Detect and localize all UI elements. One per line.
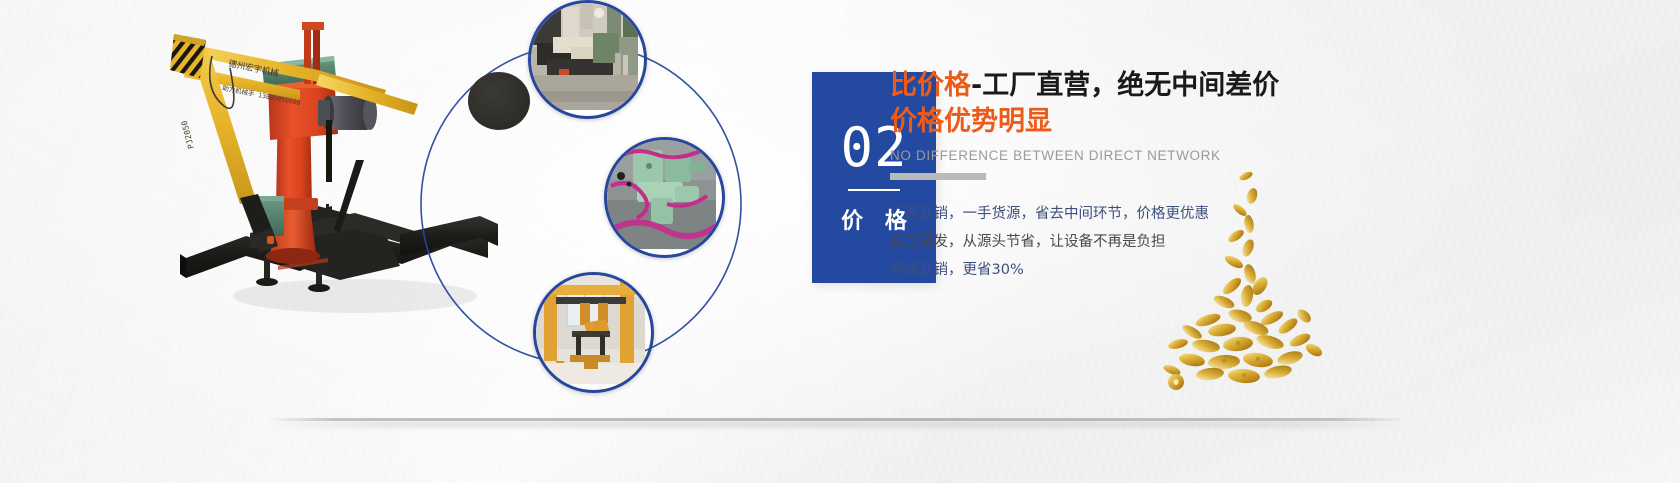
thumbnail-factory-crane[interactable] [533,272,654,393]
promo-banner: 德州宏宇机械 助力机械手 13805050000 PJ2050 [0,0,1680,483]
headline-english-subtitle: NO DIFFERENCE BETWEEN DIRECT NETWORK [890,148,1450,163]
headline-line-2: 价格优势明显 [890,105,1450,139]
headline-line-1: 比价格-工厂直营，绝无中间差价 [890,68,1450,104]
gold-coins-illustration [1148,170,1338,395]
thumbnail-workshop-machines[interactable] [528,0,647,119]
headline-highlight: 比价格 [890,70,971,101]
thumbnail-pneumatic-valve[interactable] [604,137,725,258]
bottom-divider [268,418,1406,421]
decorative-dark-ellipse [468,72,530,130]
accent-bar [890,173,986,180]
bottom-divider-shadow [268,421,1406,428]
headline-rest: -工厂直营，绝无中间差价 [971,70,1279,101]
product-model-text: PJ2050 [180,119,196,149]
